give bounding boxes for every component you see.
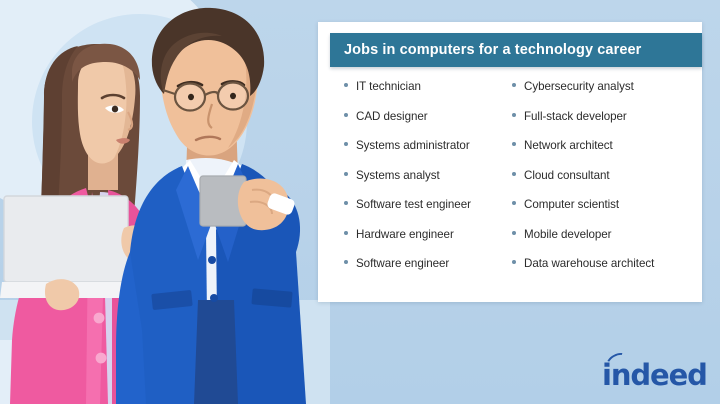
man-figure	[116, 8, 306, 404]
page-title: Jobs in computers for a technology caree…	[330, 42, 641, 58]
list-item: Cloud consultant	[512, 169, 702, 199]
bullet-icon	[344, 231, 348, 235]
job-title: Hardware engineer	[356, 228, 454, 241]
bullet-icon	[512, 172, 516, 176]
slide-canvas: Jobs in computers for a technology caree…	[0, 0, 720, 404]
list-item: Full-stack developer	[512, 110, 702, 140]
job-title: Software engineer	[356, 257, 449, 270]
bullet-icon	[512, 142, 516, 146]
list-item: Systems analyst	[344, 169, 512, 199]
list-item: CAD designer	[344, 110, 512, 140]
bullet-icon	[512, 260, 516, 264]
job-title: Computer scientist	[524, 198, 619, 211]
list-item: Data warehouse architect	[512, 257, 702, 287]
job-title: Mobile developer	[524, 228, 612, 241]
bullet-icon	[344, 83, 348, 87]
bullet-icon	[344, 113, 348, 117]
job-title: Cybersecurity analyst	[524, 80, 634, 93]
indeed-logo: indeed	[602, 358, 706, 392]
job-title: CAD designer	[356, 110, 428, 123]
bullet-icon	[344, 201, 348, 205]
bullet-icon	[344, 172, 348, 176]
list-item: Systems administrator	[344, 139, 512, 169]
bullet-icon	[344, 260, 348, 264]
job-title: Systems administrator	[356, 139, 470, 152]
job-title: Network architect	[524, 139, 613, 152]
list-item: Computer scientist	[512, 198, 702, 228]
jobs-list-left-column: IT technician CAD designer Systems admin…	[318, 80, 512, 287]
list-item: Mobile developer	[512, 228, 702, 258]
job-title: IT technician	[356, 80, 421, 93]
card-header: Jobs in computers for a technology caree…	[330, 33, 702, 67]
list-item: Cybersecurity analyst	[512, 80, 702, 110]
list-item: IT technician	[344, 80, 512, 110]
list-item: Network architect	[512, 139, 702, 169]
jobs-list: IT technician CAD designer Systems admin…	[318, 80, 702, 287]
list-item: Software engineer	[344, 257, 512, 287]
job-title: Cloud consultant	[524, 169, 610, 182]
bullet-icon	[344, 142, 348, 146]
jobs-list-card: Jobs in computers for a technology caree…	[318, 22, 702, 302]
bullet-icon	[512, 201, 516, 205]
two-professionals-illustration	[0, 0, 330, 404]
list-item: Hardware engineer	[344, 228, 512, 258]
list-item: Software test engineer	[344, 198, 512, 228]
job-title: Systems analyst	[356, 169, 440, 182]
job-title: Software test engineer	[356, 198, 471, 211]
jobs-list-right-column: Cybersecurity analyst Full-stack develop…	[512, 80, 702, 287]
job-title: Full-stack developer	[524, 110, 627, 123]
job-title: Data warehouse architect	[524, 257, 654, 270]
indeed-wordmark: indeed	[602, 358, 707, 392]
bullet-icon	[512, 231, 516, 235]
bullet-icon	[512, 83, 516, 87]
bullet-icon	[512, 113, 516, 117]
